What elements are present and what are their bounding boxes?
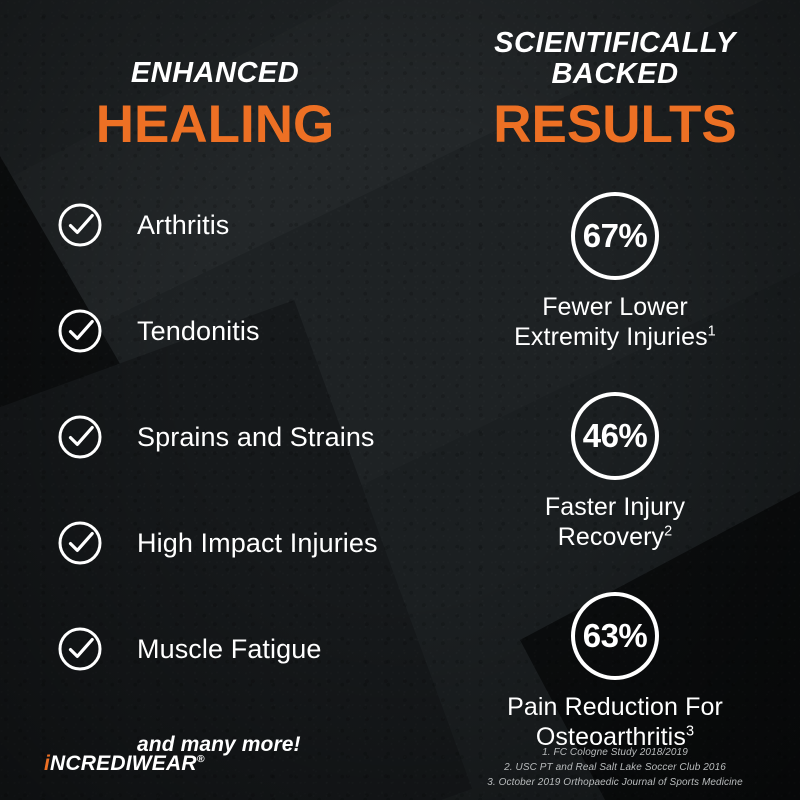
right-heading-kicker-line1: SCIENTIFICALLY bbox=[430, 28, 800, 59]
stat-footnote-ref: 1 bbox=[708, 323, 716, 339]
list-item: Arthritis bbox=[58, 203, 430, 247]
stat-caption-line1: Faster Injury bbox=[545, 493, 685, 521]
left-heading-title: HEALING bbox=[0, 98, 430, 151]
list-item-label: Muscle Fatigue bbox=[137, 634, 321, 665]
stat-caption-line2: Extremity Injuries bbox=[514, 323, 708, 351]
stat-block: 46% Faster Injury Recovery2 bbox=[430, 392, 800, 552]
footnote-item: 2. USC PT and Real Salt Lake Soccer Club… bbox=[430, 760, 800, 775]
stat-caption-line1: Fewer Lower bbox=[542, 293, 688, 321]
stat-percentage: 63% bbox=[583, 619, 648, 652]
stat-circle-badge: 63% bbox=[571, 592, 659, 680]
registered-trademark-icon: ® bbox=[197, 753, 205, 765]
check-circle-icon bbox=[58, 521, 102, 565]
stat-footnote-ref: 3 bbox=[686, 723, 694, 739]
stat-percentage: 67% bbox=[583, 219, 648, 252]
footnote-list: 1. FC Cologne Study 2018/2019 2. USC PT … bbox=[430, 745, 800, 790]
stat-caption: Faster Injury Recovery2 bbox=[430, 493, 800, 552]
stat-caption: Fewer Lower Extremity Injuries1 bbox=[430, 293, 800, 352]
list-item: Sprains and Strains bbox=[58, 415, 430, 459]
right-heading-kicker-line2: BACKED bbox=[430, 59, 800, 90]
check-circle-icon bbox=[58, 203, 102, 247]
enhanced-healing-column: ENHANCED HEALING Arthritis bbox=[0, 0, 430, 800]
poster-content: ENHANCED HEALING Arthritis bbox=[0, 0, 800, 800]
list-item-label: Arthritis bbox=[137, 210, 229, 241]
list-item: Tendonitis bbox=[58, 309, 430, 353]
stat-circle-badge: 46% bbox=[571, 392, 659, 480]
check-circle-icon bbox=[58, 309, 102, 353]
stat-caption: Pain Reduction For Osteoarthritis3 bbox=[430, 693, 800, 752]
left-column-heading: ENHANCED HEALING bbox=[0, 58, 430, 151]
condition-check-list: Arthritis Tendonitis bbox=[58, 203, 430, 757]
stat-circle-badge: 67% bbox=[571, 192, 659, 280]
check-circle-icon bbox=[58, 627, 102, 671]
footnote-item: 1. FC Cologne Study 2018/2019 bbox=[430, 745, 800, 760]
footnote-item: 3. October 2019 Orthopaedic Journal of S… bbox=[430, 775, 800, 790]
logo-wordmark: NCREDIWEAR bbox=[50, 752, 197, 775]
stat-footnote-ref: 2 bbox=[664, 523, 672, 539]
incrediwear-logo: iNCREDIWEAR® bbox=[44, 752, 205, 776]
list-item-label: Sprains and Strains bbox=[137, 422, 375, 453]
check-circle-icon bbox=[58, 415, 102, 459]
list-item-label: High Impact Injuries bbox=[137, 528, 378, 559]
stat-caption-line2: Recovery bbox=[558, 523, 664, 551]
list-item-label: Tendonitis bbox=[137, 316, 260, 347]
stat-block: 63% Pain Reduction For Osteoarthritis3 bbox=[430, 592, 800, 752]
right-heading-title: RESULTS bbox=[430, 98, 800, 151]
scientific-results-column: SCIENTIFICALLY BACKED RESULTS 67% Fewer … bbox=[430, 0, 800, 800]
left-heading-kicker: ENHANCED bbox=[0, 58, 430, 89]
right-column-heading: SCIENTIFICALLY BACKED RESULTS bbox=[430, 28, 800, 151]
infographic-poster: ENHANCED HEALING Arthritis bbox=[0, 0, 800, 800]
list-item: High Impact Injuries bbox=[58, 521, 430, 565]
list-item: Muscle Fatigue bbox=[58, 627, 430, 671]
stat-block: 67% Fewer Lower Extremity Injuries1 bbox=[430, 192, 800, 352]
stat-percentage: 46% bbox=[583, 419, 648, 452]
stat-caption-line1: Pain Reduction For bbox=[507, 693, 723, 721]
